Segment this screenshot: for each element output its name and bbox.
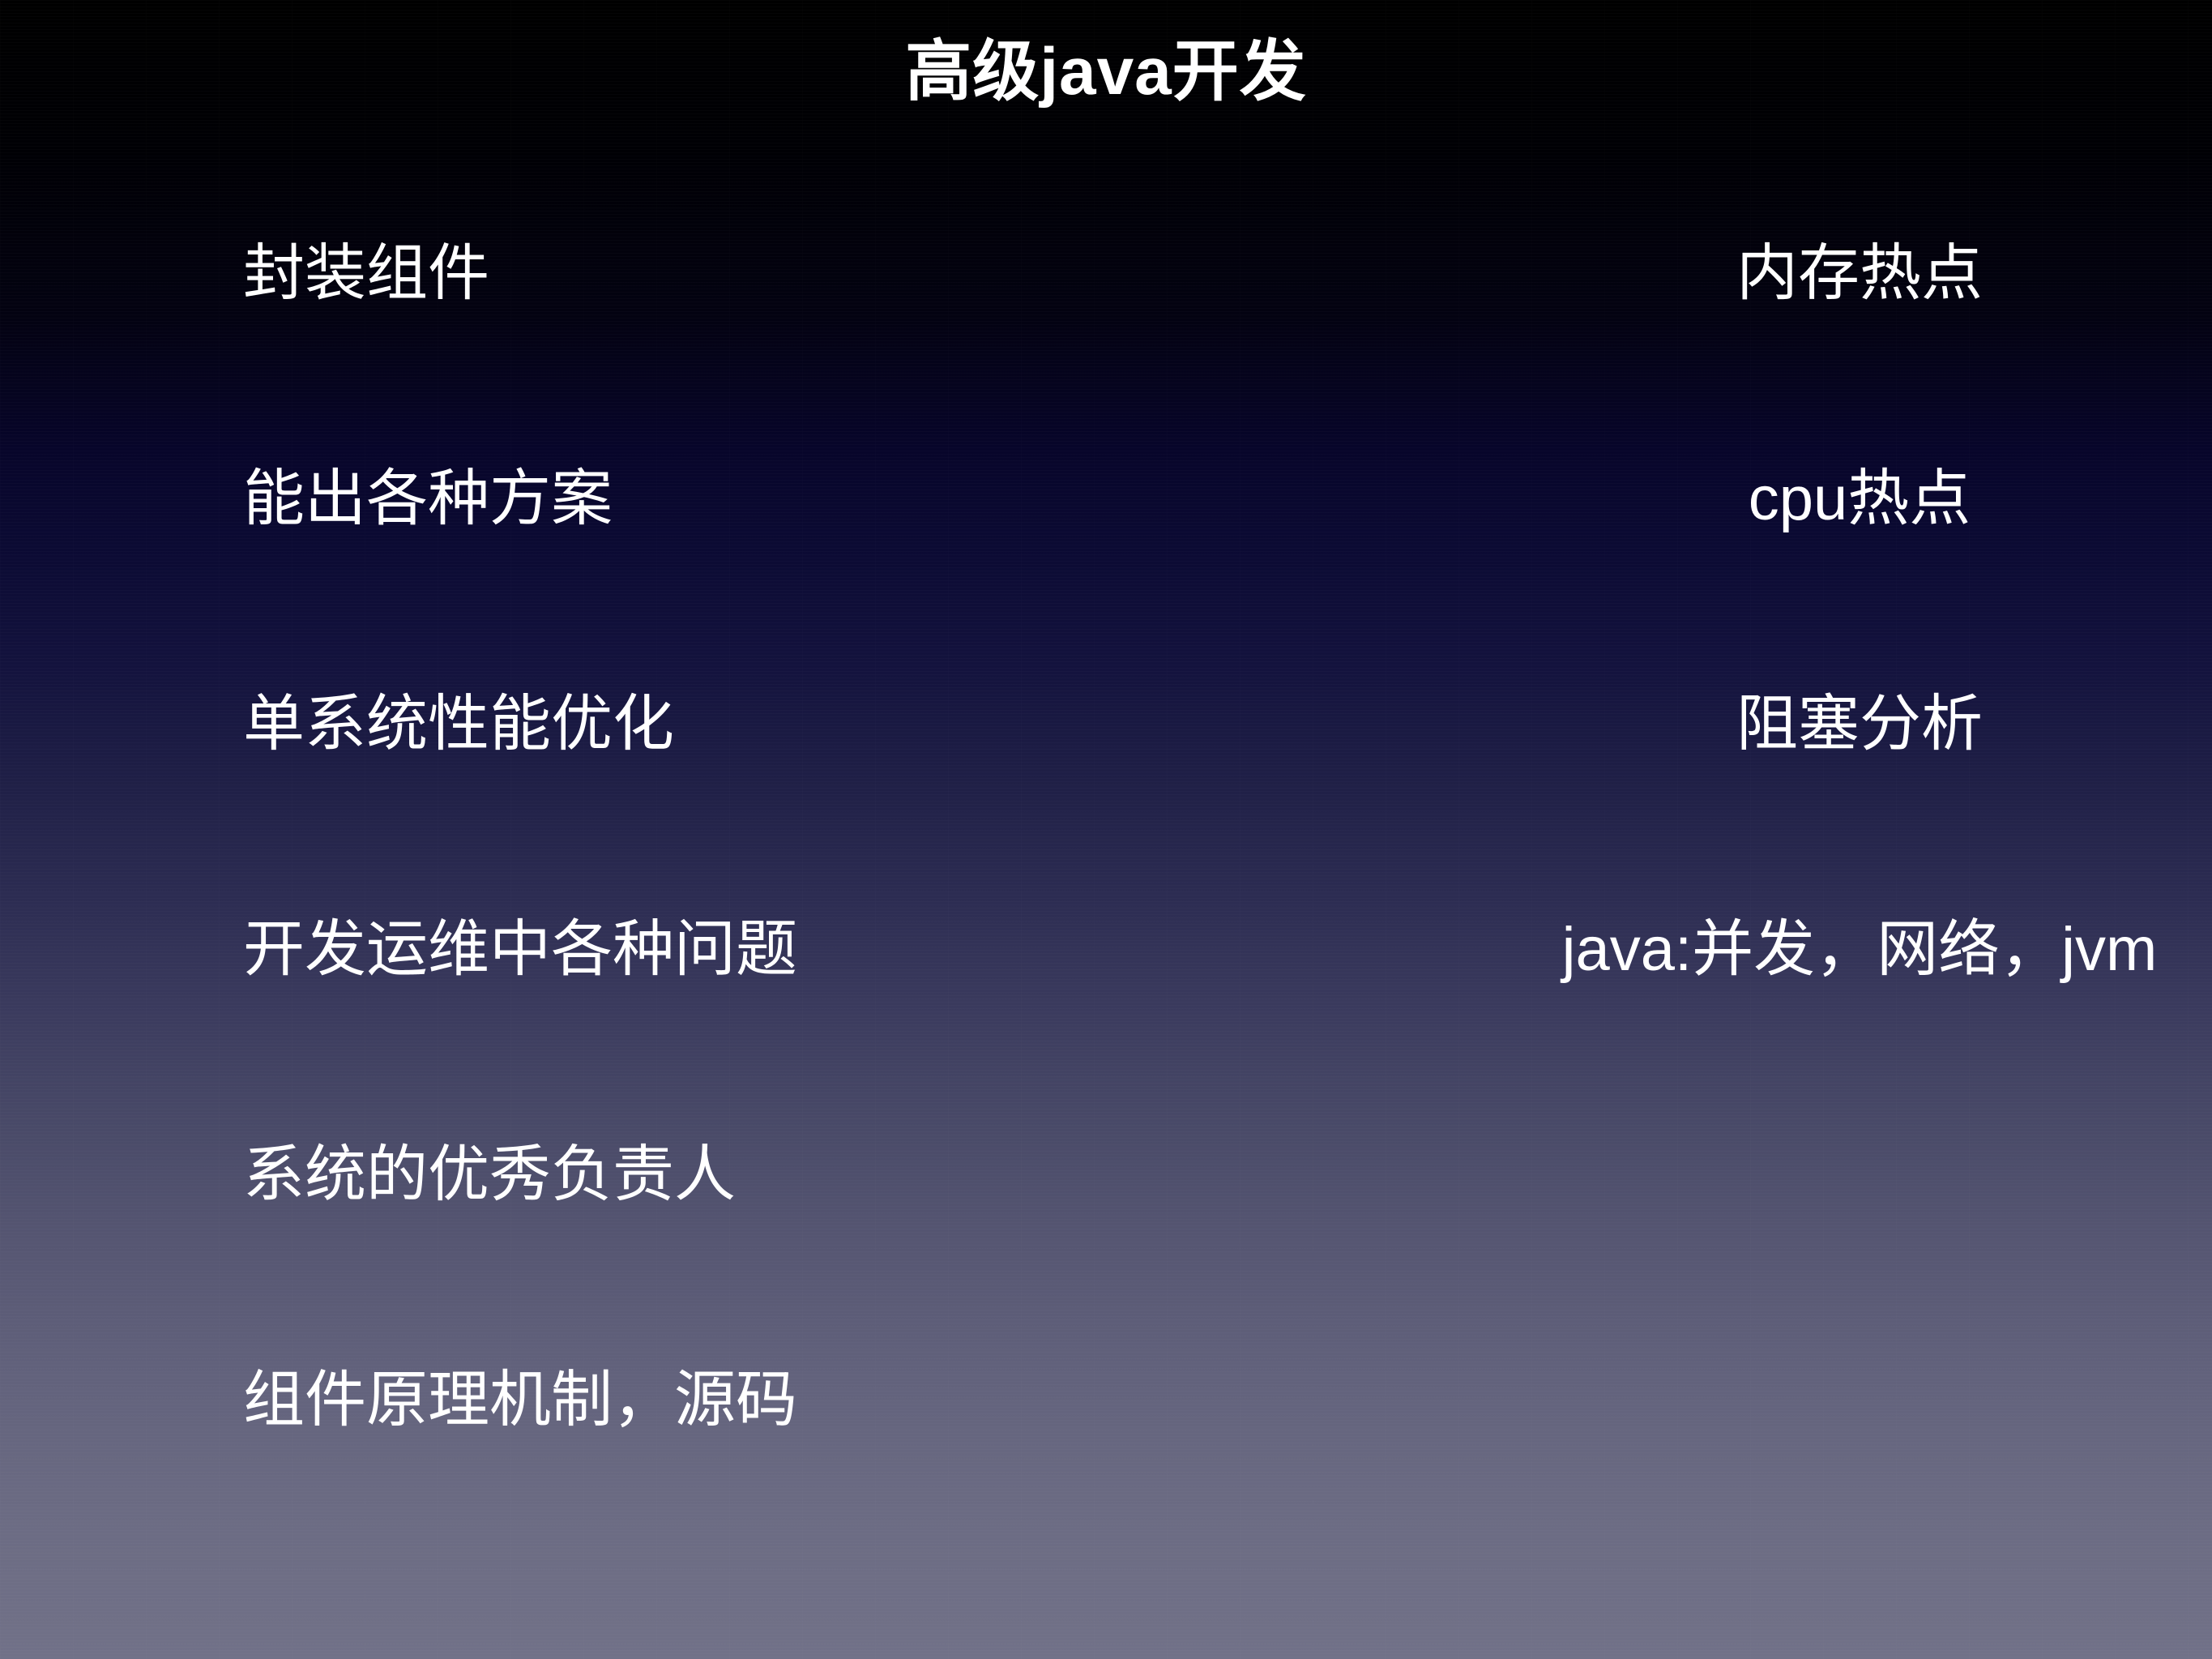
list-item: 能出各种方案 [243, 468, 1134, 694]
left-bullet-label-3: 单系统性能优化 [243, 694, 674, 755]
left-bullet-label-4: 开发运维中各种问题 [243, 919, 797, 981]
list-item: 封装组件 [243, 243, 1134, 468]
list-item: 单系统性能优化 [243, 694, 1134, 919]
right-bullet-label-3: 阻塞分析 [1736, 694, 1983, 755]
list-item: 组件原理机制，源码 [243, 1370, 1134, 1595]
left-bullet-label-5: 系统的优秀负责人 [243, 1144, 736, 1206]
right-bullet-label-1: 内存热点 [1736, 243, 1983, 305]
page-title: 高级java开发 [0, 34, 2212, 110]
left-bullet-column: 封装组件 能出各种方案 单系统性能优化 开发运维中各种问题 系统的优秀负责人 组… [243, 243, 1134, 1595]
left-bullet-label-6: 组件原理机制，源码 [243, 1370, 797, 1431]
list-item: cpu热点 [1377, 468, 2212, 694]
list-item: 系统的优秀负责人 [243, 1144, 1134, 1370]
right-bullet-label-4: java:并发，网络，jvm [1562, 919, 2158, 981]
presentation-slide: 高级java开发 封装组件 能出各种方案 单系统性能优化 开发运维中各种问题 系… [0, 0, 2212, 1659]
right-bullet-column: 内存热点 cpu热点 阻塞分析 java:并发，网络，jvm [1377, 243, 2212, 1144]
right-bullet-label-2: cpu热点 [1749, 468, 1971, 530]
list-item: 内存热点 [1377, 243, 2212, 468]
list-item: 开发运维中各种问题 [243, 919, 1134, 1144]
list-item: 阻塞分析 [1377, 694, 2212, 919]
left-bullet-label-1: 封装组件 [243, 243, 489, 305]
left-bullet-label-2: 能出各种方案 [243, 468, 613, 530]
list-item: java:并发，网络，jvm [1377, 919, 2212, 1144]
